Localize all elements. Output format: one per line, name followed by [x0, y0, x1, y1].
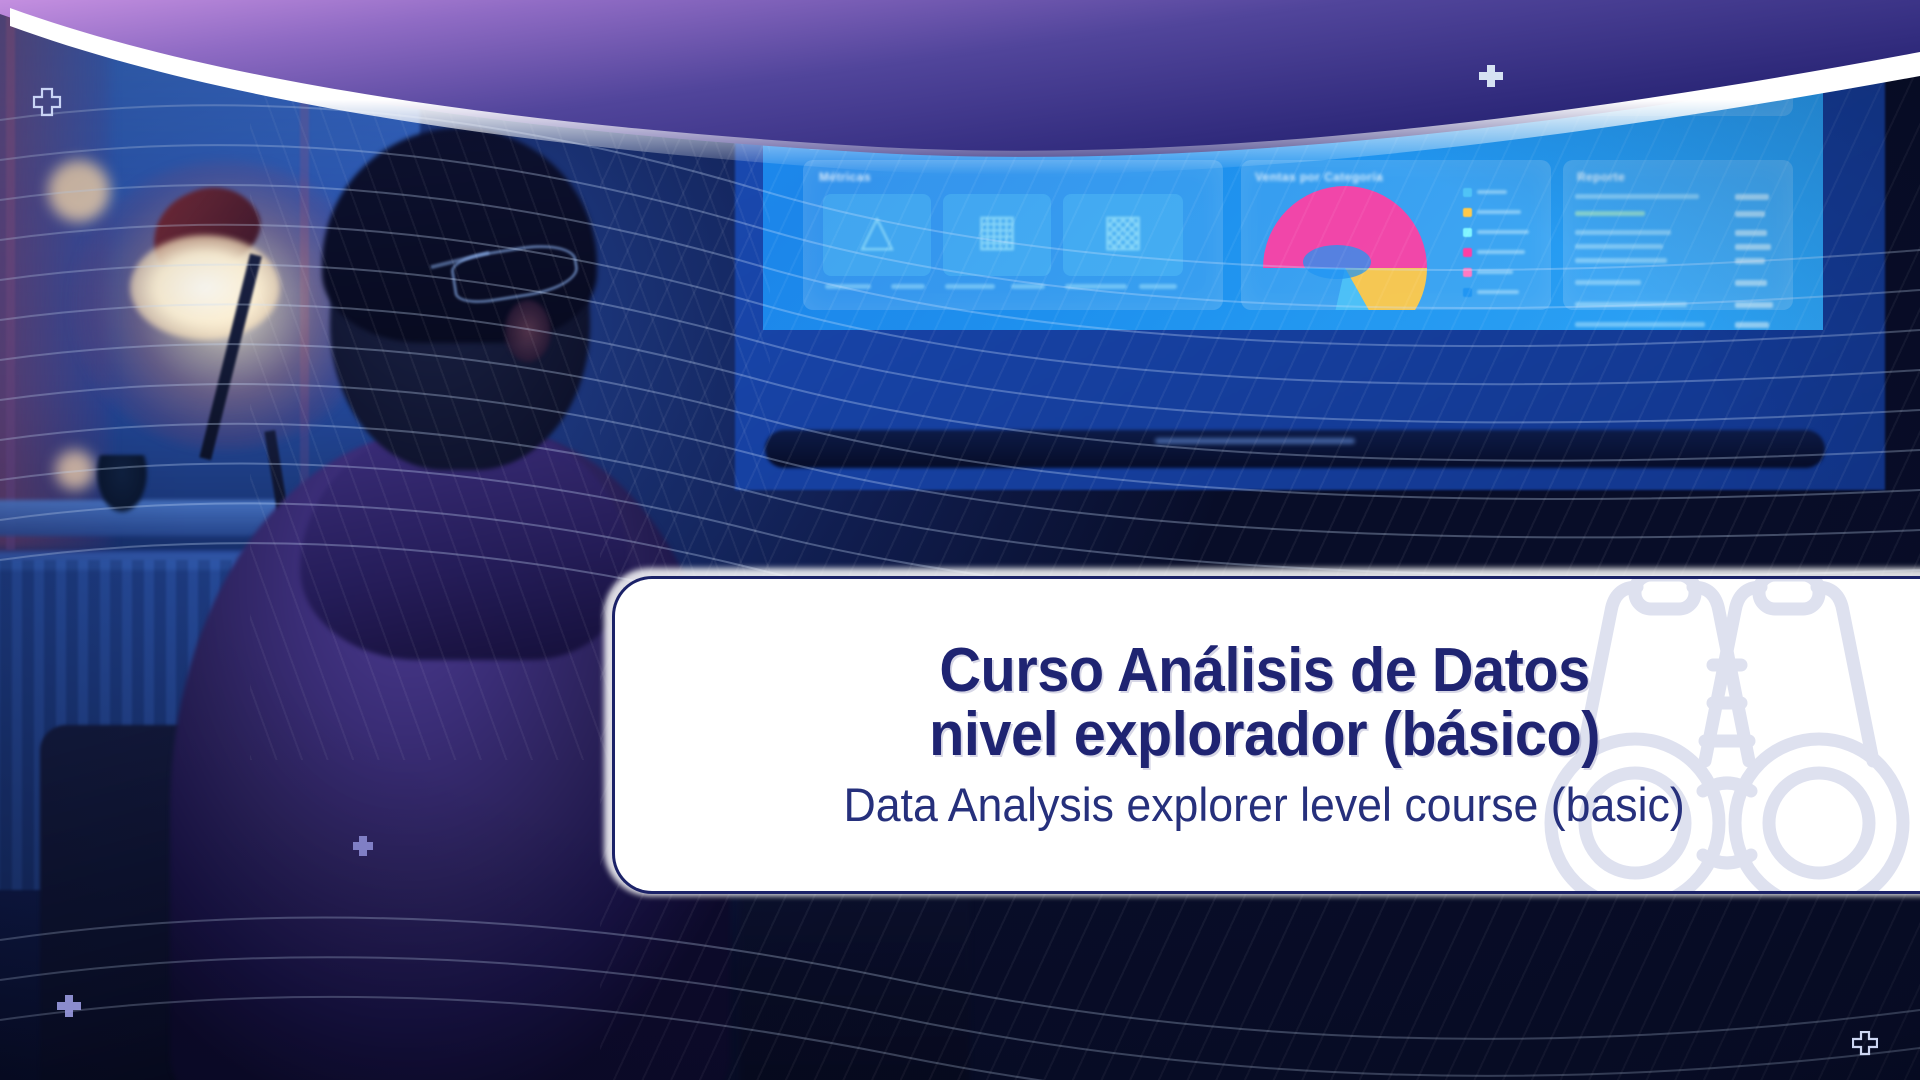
bar [967, 0, 976, 132]
bokeh-light-1 [48, 160, 110, 222]
kpi-value-matrix [1139, 284, 1177, 289]
bar [1021, 30, 1031, 132]
bar [923, 0, 932, 132]
kpi-caption-matrix [1065, 284, 1127, 289]
bar [1052, 0, 1062, 132]
bar [1039, 100, 1048, 132]
bar [895, 53, 904, 132]
page-subtitle: Data Analysis explorer level course (bas… [649, 779, 1920, 831]
table-cell-value [1735, 302, 1773, 308]
dashboard-surface: Ventas [763, 0, 1823, 330]
legend-label [1477, 230, 1529, 234]
legend-swatch [1463, 268, 1472, 277]
table-row [1575, 258, 1667, 263]
bar-chart-plot [833, 0, 1203, 132]
bar [941, 40, 950, 132]
kpi-caption-grid [945, 284, 995, 289]
lamp-bulb [130, 235, 280, 340]
table-cell-value [1735, 258, 1765, 264]
table-row [1575, 230, 1671, 235]
bar [1133, 0, 1142, 132]
table-cell-value [1735, 230, 1767, 236]
table-row [1575, 244, 1663, 249]
projection-screen: Ventas [735, 0, 1885, 490]
plant [95, 455, 149, 515]
line-chart-panel [1463, 0, 1793, 116]
bar [999, 76, 1008, 132]
table-cell-value [1735, 194, 1769, 200]
line-chart-icon: △ [823, 205, 931, 256]
pie-chart [1253, 182, 1443, 310]
screen-roller-bar [765, 430, 1825, 468]
bar [835, 65, 844, 132]
window-frame-left [6, 0, 15, 550]
bar [846, 97, 855, 132]
bar [906, 86, 914, 132]
kpi-value-grid [1011, 284, 1045, 289]
table-row [1575, 194, 1699, 199]
legend-label [1477, 270, 1513, 274]
bar [859, 79, 868, 132]
page-title-line-1: Curso Análisis de Datos [662, 639, 1908, 703]
kpi-section-title: Métricas [819, 170, 871, 184]
legend-label [1477, 250, 1525, 254]
title-card-content: Curso Análisis de Datos nivel explorador… [615, 639, 1920, 830]
bar [952, 12, 962, 132]
data-table-title: Reporte [1577, 170, 1625, 184]
kpi-value-trend [891, 284, 925, 289]
table-cell-value [1735, 280, 1767, 286]
legend-swatch [1463, 248, 1472, 257]
bar [1089, 5, 1098, 132]
bar [1109, 93, 1119, 132]
title-card: Curso Análisis de Datos nivel explorador… [612, 576, 1920, 894]
legend-label [1477, 290, 1519, 294]
background-photo: Ventas [0, 0, 1920, 1080]
course-banner: Ventas [0, 0, 1920, 1080]
legend-swatch [1463, 228, 1472, 237]
table-row [1575, 322, 1705, 327]
page-title-line-2: nivel explorador (básico) [662, 703, 1908, 767]
grid-icon: ▦ [943, 205, 1051, 256]
bar [1069, 0, 1078, 132]
table-row [1575, 280, 1641, 285]
legend-swatch [1463, 288, 1472, 297]
bokeh-light-2 [55, 450, 95, 490]
legend-label [1477, 210, 1521, 214]
legend-label [1477, 190, 1507, 194]
table-row [1575, 211, 1645, 216]
person-ear [505, 300, 551, 362]
legend-swatch [1463, 208, 1472, 217]
screen-roller-highlight [1155, 438, 1355, 444]
matrix-icon: ▩ [1063, 205, 1183, 256]
line-chart [1475, 0, 1775, 6]
bar [877, 0, 885, 132]
table-cell-value [1735, 211, 1765, 217]
table-cell-value [1735, 244, 1771, 250]
bar [983, 0, 992, 132]
kpi-caption-trend [825, 284, 871, 289]
table-cell-value [1735, 322, 1769, 328]
table-row [1575, 302, 1687, 307]
legend-swatch [1463, 188, 1472, 197]
